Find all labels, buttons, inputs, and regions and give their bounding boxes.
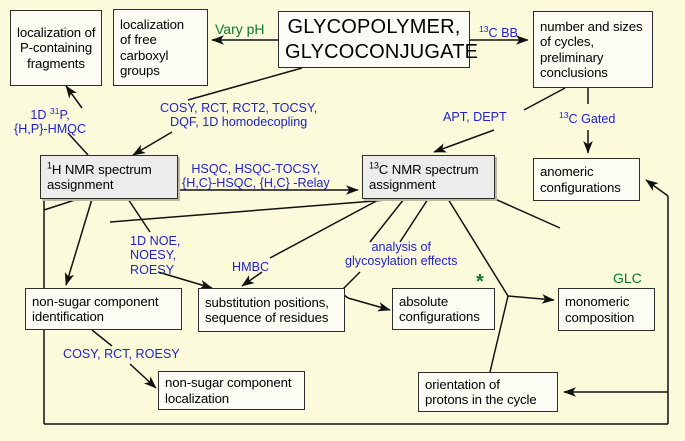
label-line: COSY, RCT, RCT2, TOCSY, [160, 101, 317, 115]
node-line: number and sizes [540, 19, 646, 34]
superscript-13: 13 [559, 110, 569, 120]
asterisk-marker: * [476, 271, 484, 294]
edge-hnmr-corner [44, 199, 78, 210]
node-line: of free [120, 32, 201, 47]
node-line: monomeric [565, 294, 648, 309]
node-line: anomeric [540, 164, 633, 179]
node-line: localization [165, 391, 298, 406]
node-line: protons in the cycle [425, 392, 551, 407]
edge-label-text: C Gated [569, 112, 616, 126]
node-line: configurations [399, 309, 488, 324]
node-line: P-containing [17, 40, 95, 55]
node-line: localization of [17, 25, 95, 40]
node-absolute-configurations[interactable]: absolute configurations [392, 288, 495, 330]
node-glycopolymer-glycoconjugate[interactable]: GLYCOPOLYMER, GLYCOCONJUGATE [278, 11, 470, 68]
node-line: GLYCOCONJUGATE [285, 40, 463, 64]
edge-label-glycosylation-effects: analysis of glycosylation effects [345, 240, 457, 269]
edge-cnmr-right-1 [495, 199, 560, 228]
edge-label-cosy-rct-roesy: COSY, RCT, ROESY [63, 347, 180, 361]
node-line: 1H NMR spectrum [47, 162, 171, 177]
node-line: 13C NMR spectrum [369, 162, 488, 177]
label-line: NOESY, [130, 248, 176, 262]
edge-label-hsqc-relay: HSQC, HSQC-TOCSY, {H,C}-HSQC, {H,C} -Rel… [182, 162, 330, 191]
edge-star-to-monomeric [508, 296, 554, 300]
label-text: P, [59, 108, 69, 122]
node-line: orientation of [425, 377, 551, 392]
node-line: non-sugar component [32, 294, 175, 309]
edge-p31-to-pfrag [66, 86, 82, 108]
edge-cycles-to-apt [524, 88, 565, 110]
node-substitution-positions[interactable]: substitution positions, sequence of resi… [198, 288, 345, 332]
edge-hnmr-to-nonsugar [66, 199, 92, 285]
label-line: glycosylation effects [345, 254, 457, 268]
node-non-sugar-component-localization[interactable]: non-sugar component localization [158, 371, 305, 410]
edge-glyco-to-absolute [348, 298, 390, 310]
edge-label-noe-noesy-roesy: 1D NOE, NOESY, ROESY [130, 234, 180, 277]
node-line-text: C NMR spectrum [379, 162, 479, 177]
node-non-sugar-component-identification[interactable]: non-sugar component identification [25, 288, 182, 330]
edge-label-hmbc: HMBC [232, 260, 269, 274]
edge-hnmr-fan-right [110, 200, 386, 222]
node-line: GLYCOPOLYMER, [285, 15, 463, 39]
edge-label-p31-hmqc: 1D 31P, {H,P}-HMQC [14, 108, 86, 137]
node-number-and-sizes-of-cycles[interactable]: number and sizes of cycles, preliminary … [533, 11, 653, 88]
edge-hnmr-to-noe [128, 199, 150, 232]
node-line: of cycles, [540, 34, 646, 49]
node-line: identification [32, 309, 175, 324]
edge-label-apt-dept: APT, DEPT [443, 110, 507, 124]
edge-cosy-to-localization [130, 364, 156, 388]
label-line: ROESY [130, 263, 174, 277]
node-c13-nmr-spectrum-assignment[interactable]: 13C NMR spectrum assignment [362, 155, 495, 199]
node-h-nmr-spectrum-assignment[interactable]: 1H NMR spectrum assignment [40, 155, 178, 199]
label-line: analysis of [371, 240, 431, 254]
superscript-13: 13 [479, 24, 489, 34]
edge-label-c13-bb: 13C BB [479, 26, 518, 40]
flowchart-canvas: localization of P-containing fragments l… [0, 0, 685, 441]
label-line: {H,P}-HMQC [14, 122, 86, 136]
edge-label-text: C BB [489, 26, 518, 40]
label-line: {H,C}-HSQC, {H,C} -Relay [182, 176, 330, 190]
node-line: groups [120, 63, 201, 78]
node-line: preliminary [540, 50, 646, 65]
edge-label-cosy-tocsy: COSY, RCT, RCT2, TOCSY, DQF, 1D homodeco… [160, 101, 317, 130]
node-monomeric-composition[interactable]: monomeric composition [558, 288, 655, 331]
node-line: conclusions [540, 65, 646, 80]
node-line: configurations [540, 180, 633, 195]
edge-apt-to-cnmr [434, 130, 494, 152]
label-line: 1D NOE, [130, 234, 180, 248]
label-line: DQF, 1D homodecopling [170, 115, 307, 129]
edge-nonsugarid-to-cosy [92, 330, 112, 346]
node-free-carboxyl-groups[interactable]: localization of free carboxyl groups [113, 9, 208, 86]
node-line: carboxyl [120, 48, 201, 63]
edge-label-vary-ph: Vary pH [215, 22, 265, 38]
edge-label-c13-gated: 13C Gated [559, 112, 615, 126]
edge-cnmr-to-glyco2 [400, 199, 428, 242]
label-line: 1D 31P, [30, 108, 69, 122]
edge-label-glc: GLC [613, 271, 642, 287]
node-line: assignment [47, 177, 171, 192]
node-line: substitution positions, [205, 295, 338, 310]
node-p-containing-fragments[interactable]: localization of P-containing fragments [10, 10, 102, 86]
edge-cnmr-to-glyco [370, 199, 404, 242]
edge-cosy-to-hnmr [133, 132, 172, 155]
node-anomeric-configurations[interactable]: anomeric configurations [533, 158, 640, 201]
node-line: non-sugar component [165, 375, 298, 390]
node-line: composition [565, 310, 648, 325]
node-line: sequence of residues [205, 310, 338, 325]
superscript-13: 13 [369, 160, 379, 170]
node-line: fragments [17, 56, 95, 71]
node-line: absolute [399, 294, 488, 309]
node-orientation-of-protons[interactable]: orientation of protons in the cycle [418, 372, 558, 412]
node-line: localization [120, 17, 201, 32]
node-line: assignment [369, 177, 488, 192]
node-line-text: H NMR spectrum [52, 162, 152, 177]
label-line: HSQC, HSQC-TOCSY, [191, 162, 320, 176]
edge-rail-to-anomeric [646, 180, 668, 196]
label-text: 1D [30, 108, 50, 122]
